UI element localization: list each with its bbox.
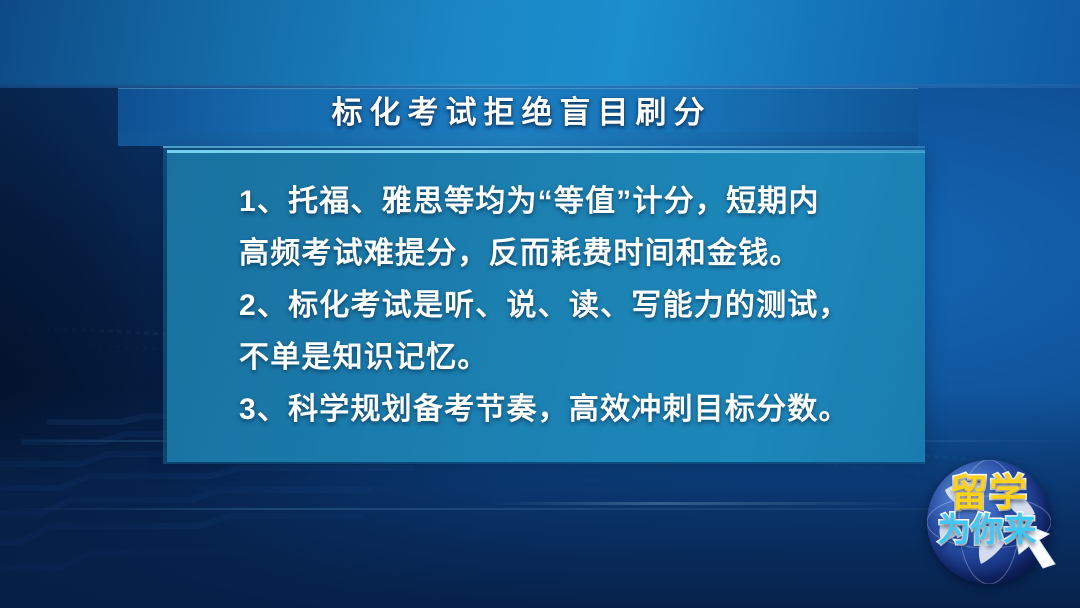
program-logo: 留学 为你来 [913,452,1065,602]
logo-text-secondary: 为你来 [921,512,1053,548]
content-line: 2、标化考试是听、说、读、写能力的测试， [239,280,887,332]
content-line: 3、科学规划备考节奏，高效冲刺目标分数。 [239,384,887,436]
page-title: 标化考试拒绝盲目刷分 [118,92,918,134]
top-band [0,0,1080,86]
content-text-block: 1、托福、雅思等均为“等值”计分，短期内 高频考试难提分，反而耗费时间和金钱。 … [167,152,925,462]
content-line: 高频考试难提分，反而耗费时间和金钱。 [239,228,887,280]
content-line: 1、托福、雅思等均为“等值”计分，短期内 [239,176,887,228]
broadcast-slide: 标化考试拒绝盲目刷分 1、托福、雅思等均为“等值”计分，短期内 高频考试难提分，… [0,0,1080,608]
title-band-lower [118,132,918,146]
content-panel-frame-highlight [163,146,925,148]
logo-text-primary: 留学 [929,474,1049,514]
content-line: 不单是知识记忆。 [239,332,887,384]
